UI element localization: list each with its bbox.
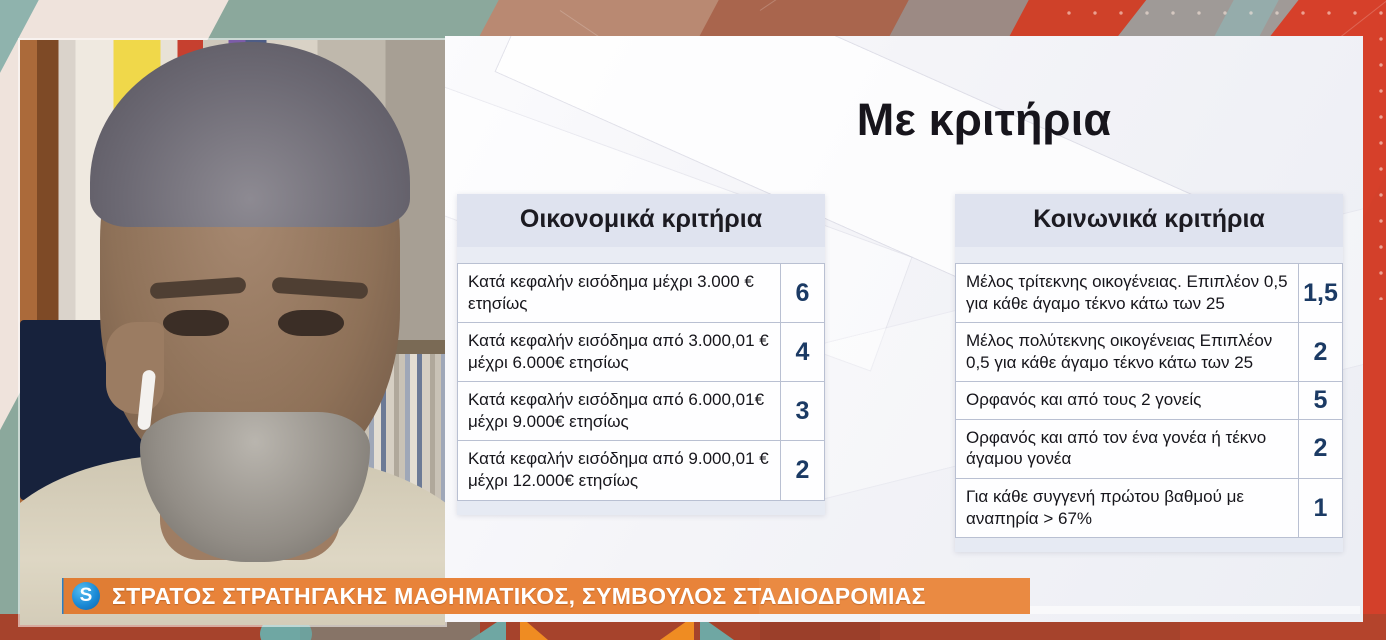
criterion-text: Μέλος πολύτεκνης οικογένειας Επιπλέον 0,… (956, 323, 1299, 382)
criterion-text: Κατά κεφαλήν εισόδημα μέχρι 3.000 € ετησ… (458, 264, 781, 323)
social-criteria-card: Κοινωνικά κριτήρια Μέλος τρίτεκνης οικογ… (955, 194, 1343, 552)
criterion-value: 2 (781, 441, 825, 500)
criterion-text: Μέλος τρίτεκνης οικογένειας. Επιπλέον 0,… (956, 264, 1299, 323)
economic-criteria-table: Κατά κεφαλήν εισόδημα μέχρι 3.000 € ετησ… (457, 263, 825, 501)
table-row: Κατά κεφαλήν εισόδημα από 3.000,01 € μέχ… (458, 323, 825, 382)
criterion-text: Ορφανός και από τους 2 γονείς (956, 382, 1299, 420)
table-row: Ορφανός και από τους 2 γονείς 5 (956, 382, 1343, 420)
criterion-text: Κατά κεφαλήν εισόδημα από 3.000,01 € μέχ… (458, 323, 781, 382)
table-row: Μέλος τρίτεκνης οικογένειας. Επιπλέον 0,… (956, 264, 1343, 323)
presentation-slide: Με κριτήρια Οικονομικά κριτήρια Κατά κεφ… (445, 36, 1363, 622)
criterion-value: 6 (781, 264, 825, 323)
criterion-value: 4 (781, 323, 825, 382)
lower-third-tail (1030, 606, 1360, 614)
video-feed (20, 40, 445, 625)
criterion-value: 5 (1299, 382, 1343, 420)
criterion-value: 2 (1299, 323, 1343, 382)
table-row: Μέλος πολύτεκνης οικογένειας Επιπλέον 0,… (956, 323, 1343, 382)
economic-criteria-header: Οικονομικά κριτήρια (457, 194, 825, 247)
table-row: Κατά κεφαλήν εισόδημα από 6.000,01€ μέχρ… (458, 382, 825, 441)
table-row: Κατά κεφαλήν εισόδημα μέχρι 3.000 € ετησ… (458, 264, 825, 323)
video-speaker-eye-left (163, 310, 229, 336)
criterion-text: Για κάθε συγγενή πρώτου βαθμού με αναπηρ… (956, 479, 1299, 538)
social-card-footer (955, 538, 1343, 552)
criterion-text: Ορφανός και από τον ένα γονέα ή τέκνο άγ… (956, 419, 1299, 478)
social-criteria-table: Μέλος τρίτεκνης οικογένειας. Επιπλέον 0,… (955, 263, 1343, 538)
economic-card-footer (457, 501, 825, 515)
economic-criteria-card: Οικονομικά κριτήρια Κατά κεφαλήν εισόδημ… (457, 194, 825, 515)
lower-third-banner: S ΣΤΡΑΤΟΣ ΣΤΡΑΤΗΓΑΚΗΣ ΜΑΘΗΜΑΤΙΚΟΣ, ΣΥΜΒΟ… (62, 578, 1030, 614)
slide-title: Με κριτήρια (445, 94, 1363, 146)
social-card-gap (955, 247, 1343, 263)
social-criteria-header: Κοινωνικά κριτήρια (955, 194, 1343, 247)
criterion-value: 1 (1299, 479, 1343, 538)
criterion-value: 3 (781, 382, 825, 441)
channel-logo-icon: S (72, 582, 100, 610)
table-row: Κατά κεφαλήν εισόδημα από 9.000,01 € μέχ… (458, 441, 825, 500)
table-row: Για κάθε συγγενή πρώτου βαθμού με αναπηρ… (956, 479, 1343, 538)
criterion-value: 2 (1299, 419, 1343, 478)
economic-card-gap (457, 247, 825, 263)
video-speaker-ear (106, 322, 164, 414)
speaker-name-title: ΣΤΡΑΤΟΣ ΣΤΡΑΤΗΓΑΚΗΣ ΜΑΘΗΜΑΤΙΚΟΣ, ΣΥΜΒΟΥΛ… (112, 583, 926, 610)
criterion-value: 1,5 (1299, 264, 1343, 323)
criterion-text: Κατά κεφαλήν εισόδημα από 6.000,01€ μέχρ… (458, 382, 781, 441)
table-row: Ορφανός και από τον ένα γονέα ή τέκνο άγ… (956, 419, 1343, 478)
criterion-text: Κατά κεφαλήν εισόδημα από 9.000,01 € μέχ… (458, 441, 781, 500)
video-speaker-eye-right (278, 310, 344, 336)
broadcast-screen: Με κριτήρια Οικονομικά κριτήρια Κατά κεφ… (0, 0, 1386, 640)
